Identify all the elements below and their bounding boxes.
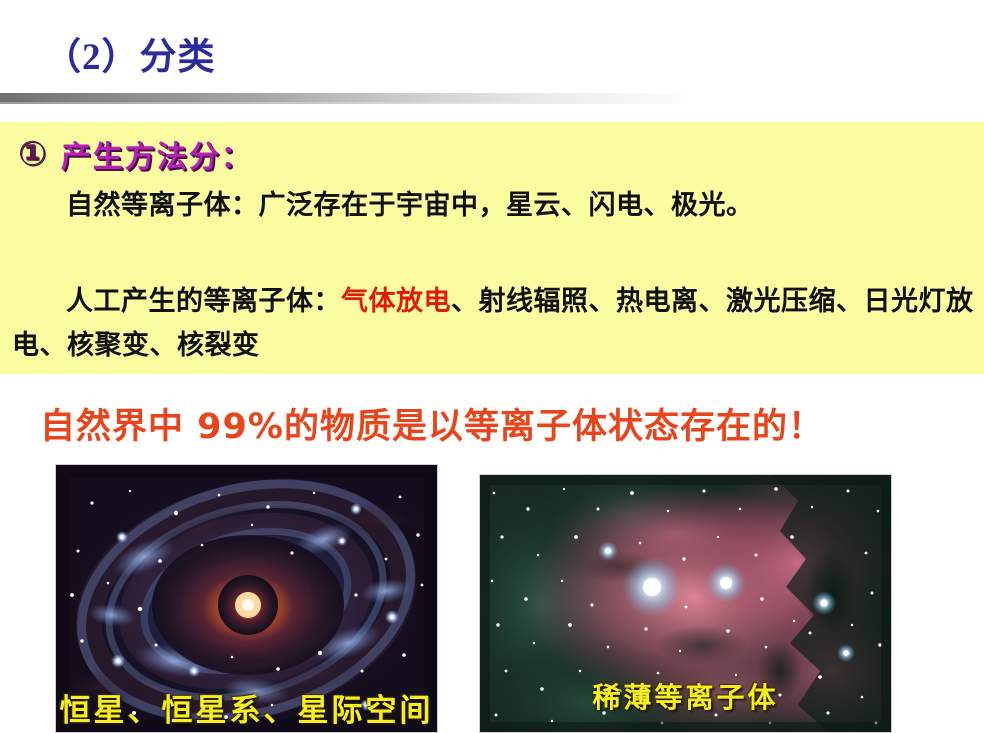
- natural-plasma-body: 广泛存在于宇宙中，星云、闪电、极光。: [259, 190, 754, 221]
- natural-plasma-term: 自然等离子体: [66, 190, 231, 221]
- section-heading: ① 产生方法分：: [18, 132, 253, 176]
- figure-nebula-caption: 稀薄等离子体: [480, 676, 892, 716]
- artificial-plasma-highlight: 气体放电: [341, 286, 451, 317]
- artificial-plasma-term: 人工产生的等离子体: [66, 286, 314, 317]
- content-panel: ① 产生方法分： 自然等离子体：广泛存在于宇宙中，星云、闪电、极光。 人工产生的…: [0, 122, 984, 374]
- circled-number-icon: ①: [18, 137, 47, 171]
- paragraph-artificial-plasma: 人工产生的等离子体：气体放电、射线辐照、热电离、激光压缩、日光灯放电、核聚变、核…: [12, 280, 977, 368]
- title-divider-shadow: [0, 102, 690, 104]
- figure-galaxy: 恒星、恒星系、星际空间: [55, 464, 438, 733]
- figure-nebula: 稀薄等离子体: [479, 474, 892, 733]
- page-title: （2）分类: [44, 26, 216, 80]
- artificial-plasma-colon: ：: [314, 286, 342, 317]
- headline-statistic: 自然界中 99%的物质是以等离子体状态存在的！: [40, 398, 824, 449]
- figure-galaxy-caption: 恒星、恒星系、星际空间: [56, 685, 437, 730]
- natural-plasma-colon: ：: [231, 190, 259, 221]
- paragraph-natural-plasma: 自然等离子体：广泛存在于宇宙中，星云、闪电、极光。: [12, 184, 977, 228]
- title-divider-gradient: [0, 93, 700, 102]
- section-heading-label: 产生方法分：: [61, 132, 253, 176]
